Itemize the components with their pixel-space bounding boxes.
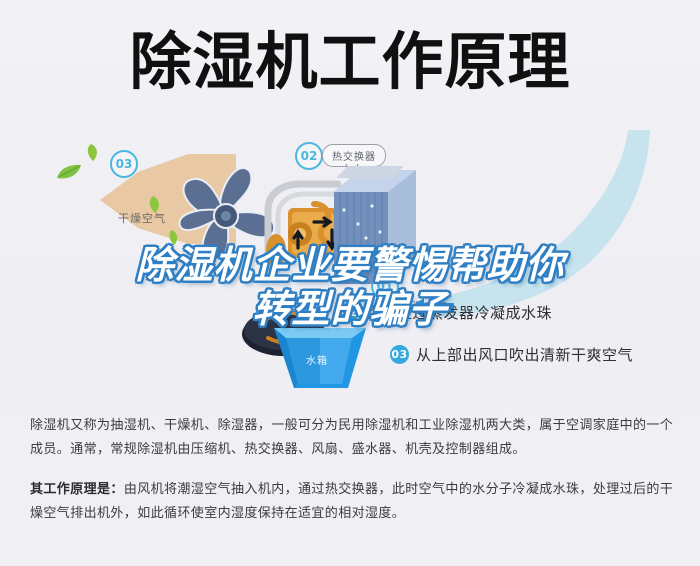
diagram-bullet-03: 03 从上部出风口吹出清新干爽空气 xyxy=(390,344,633,365)
bullet-badge-03: 03 xyxy=(390,345,409,364)
title-banner: 除湿机工作原理 xyxy=(0,0,700,128)
heat-exchanger-illustration xyxy=(330,166,422,291)
step-marker-03: 03 xyxy=(110,150,138,178)
bullet-text-02: 空气经过蒸发器冷凝成水珠 xyxy=(366,302,552,323)
step-marker-02: 02 xyxy=(295,142,323,170)
leaf-icon xyxy=(56,164,82,185)
article-page: 除湿机工作原理 干燥空气 潮湿空气 03 02 01 热交换器 xyxy=(0,0,700,566)
leaf-icon xyxy=(148,196,162,219)
paragraph-2-text: 由风机将潮湿空气抽入机内，通过热交换器，此时空气中的水分子冷凝成水珠，处理过后的… xyxy=(30,482,673,521)
dehumidifier-diagram: 干燥空气 潮湿空气 03 02 01 热交换器 xyxy=(0,126,700,411)
paragraph-2-lead: 其工作原理是： xyxy=(30,482,124,497)
page-title: 除湿机工作原理 xyxy=(0,26,700,98)
water-tank-label: 水箱 xyxy=(306,352,328,367)
paragraph-1: 除湿机又称为抽湿机、干燥机、除湿器，一般可分为民用除湿机和工业除湿机两大类，属于… xyxy=(30,414,674,462)
article-body: 除湿机又称为抽湿机、干燥机、除湿器，一般可分为民用除湿机和工业除湿机两大类，属于… xyxy=(30,414,674,542)
bullet-text-03: 从上部出风口吹出清新干爽空气 xyxy=(416,344,633,365)
bullet-badge-02: 02 xyxy=(340,303,359,322)
diagram-bullet-02: 02 空气经过蒸发器冷凝成水珠 xyxy=(340,302,552,323)
paragraph-2: 其工作原理是：由风机将潮湿空气抽入机内，通过热交换器，此时空气中的水分子冷凝成水… xyxy=(30,478,674,526)
leaf-icon xyxy=(86,144,100,167)
